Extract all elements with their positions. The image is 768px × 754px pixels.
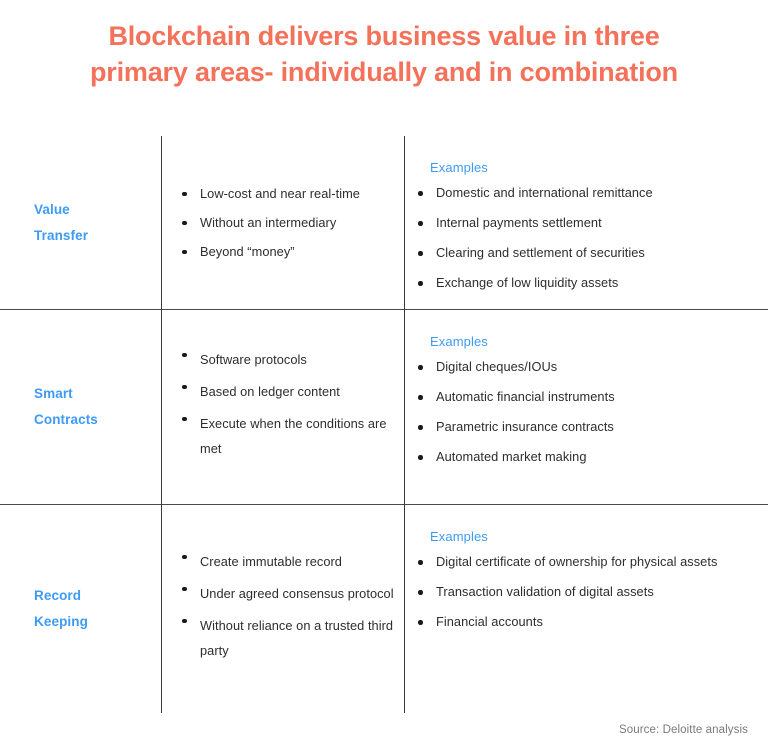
bullet-icon xyxy=(418,365,423,370)
list-item: Low-cost and near real-time xyxy=(181,186,404,202)
examples-list: Domestic and international remittance In… xyxy=(417,185,768,291)
list-item: Exchange of low liquidity assets xyxy=(417,275,768,291)
bullet-icon xyxy=(182,619,187,624)
bullet-icon xyxy=(418,281,423,286)
list-item-label: Financial accounts xyxy=(436,614,543,629)
bullet-icon xyxy=(418,560,423,565)
list-item: Without an intermediary xyxy=(181,215,404,231)
list-item-label: Beyond “money” xyxy=(200,244,295,259)
page-title: Blockchain delivers business value in th… xyxy=(0,18,768,90)
bullet-icon xyxy=(182,587,187,592)
list-item-label: Digital cheques/IOUs xyxy=(436,359,557,374)
row-label-line-1: Value xyxy=(34,197,161,223)
examples-list: Digital certificate of ownership for phy… xyxy=(417,554,768,630)
list-item: Without reliance on a trusted third part… xyxy=(181,613,404,663)
row-label-line-1: Smart xyxy=(34,381,161,407)
list-item-label: Internal payments settlement xyxy=(436,215,602,230)
examples-heading: Examples xyxy=(430,529,768,544)
list-item: Automatic financial instruments xyxy=(417,389,768,405)
list-item: Software protocols xyxy=(181,347,404,372)
list-item-label: Clearing and settlement of securities xyxy=(436,245,645,260)
list-item-label: Based on ledger content xyxy=(200,384,340,399)
examples-cell: Examples Digital cheques/IOUs Automatic … xyxy=(404,310,768,504)
source-note: Source: Deloitte analysis xyxy=(619,724,748,736)
list-item: Based on ledger content xyxy=(181,379,404,404)
row-label-line-2: Transfer xyxy=(34,223,161,249)
examples-heading: Examples xyxy=(430,160,768,175)
feature-list: Low-cost and near real-time Without an i… xyxy=(181,186,404,260)
list-item: Beyond “money” xyxy=(181,244,404,260)
row-label-value-transfer: Value Transfer xyxy=(0,136,161,309)
matrix-row: Value Transfer Low-cost and near real-ti… xyxy=(0,136,768,309)
page-title-line-2: primary areas- individually and in combi… xyxy=(22,54,746,90)
list-item-label: Digital certificate of ownership for phy… xyxy=(436,554,717,569)
list-item: Internal payments settlement xyxy=(417,215,768,231)
feature-list: Software protocols Based on ledger conte… xyxy=(181,347,404,468)
list-item: Parametric insurance contracts xyxy=(417,419,768,435)
feature-list: Create immutable record Under agreed con… xyxy=(181,549,404,670)
list-item: Financial accounts xyxy=(417,614,768,630)
examples-list: Digital cheques/IOUs Automatic financial… xyxy=(417,359,768,465)
list-item-label: Without an intermediary xyxy=(200,215,336,230)
bullet-icon xyxy=(418,620,423,625)
examples-cell: Examples Digital certificate of ownershi… xyxy=(404,505,768,713)
bullet-icon xyxy=(418,425,423,430)
bullet-icon xyxy=(182,353,187,358)
bullet-icon xyxy=(182,385,187,390)
bullet-icon xyxy=(182,417,187,422)
bullet-icon xyxy=(418,251,423,256)
matrix-row: Smart Contracts Software protocols Based… xyxy=(0,310,768,504)
examples-cell: Examples Domestic and international remi… xyxy=(404,136,768,309)
bullet-icon xyxy=(418,455,423,460)
row-label-record-keeping: Record Keeping xyxy=(0,505,161,713)
feature-cell: Create immutable record Under agreed con… xyxy=(161,505,404,713)
bullet-icon xyxy=(418,395,423,400)
list-item-label: Without reliance on a trusted third part… xyxy=(200,618,393,658)
bullet-icon xyxy=(418,191,423,196)
list-item-label: Transaction validation of digital assets xyxy=(436,584,654,599)
bullet-icon xyxy=(182,250,187,255)
examples-heading: Examples xyxy=(430,334,768,349)
list-item: Under agreed consensus protocol xyxy=(181,581,404,606)
row-label-line-2: Keeping xyxy=(34,609,161,635)
list-item-label: Under agreed consensus protocol xyxy=(200,586,394,601)
page-title-line-1: Blockchain delivers business value in th… xyxy=(22,18,746,54)
list-item: Execute when the conditions are met xyxy=(181,411,404,461)
feature-cell: Software protocols Based on ledger conte… xyxy=(161,310,404,504)
bullet-icon xyxy=(182,221,187,226)
bullet-icon xyxy=(418,221,423,226)
list-item: Domestic and international remittance xyxy=(417,185,768,201)
list-item-label: Create immutable record xyxy=(200,554,342,569)
value-matrix: Value Transfer Low-cost and near real-ti… xyxy=(0,136,768,713)
list-item: Automated market making xyxy=(417,449,768,465)
list-item-label: Automatic financial instruments xyxy=(436,389,615,404)
row-label-smart-contracts: Smart Contracts xyxy=(0,310,161,504)
list-item-label: Low-cost and near real-time xyxy=(200,186,360,201)
list-item-label: Automated market making xyxy=(436,449,587,464)
list-item: Transaction validation of digital assets xyxy=(417,584,768,600)
list-item-label: Exchange of low liquidity assets xyxy=(436,275,618,290)
list-item: Digital cheques/IOUs xyxy=(417,359,768,375)
list-item: Create immutable record xyxy=(181,549,404,574)
list-item-label: Software protocols xyxy=(200,352,307,367)
list-item-label: Parametric insurance contracts xyxy=(436,419,614,434)
row-label-line-2: Contracts xyxy=(34,407,161,433)
bullet-icon xyxy=(182,555,187,560)
list-item: Clearing and settlement of securities xyxy=(417,245,768,261)
matrix-row: Record Keeping Create immutable record U… xyxy=(0,505,768,713)
bullet-icon xyxy=(182,192,187,197)
feature-cell: Low-cost and near real-time Without an i… xyxy=(161,136,404,309)
list-item: Digital certificate of ownership for phy… xyxy=(417,554,768,570)
list-item-label: Execute when the conditions are met xyxy=(200,416,387,456)
row-label-line-1: Record xyxy=(34,583,161,609)
bullet-icon xyxy=(418,590,423,595)
list-item-label: Domestic and international remittance xyxy=(436,185,653,200)
